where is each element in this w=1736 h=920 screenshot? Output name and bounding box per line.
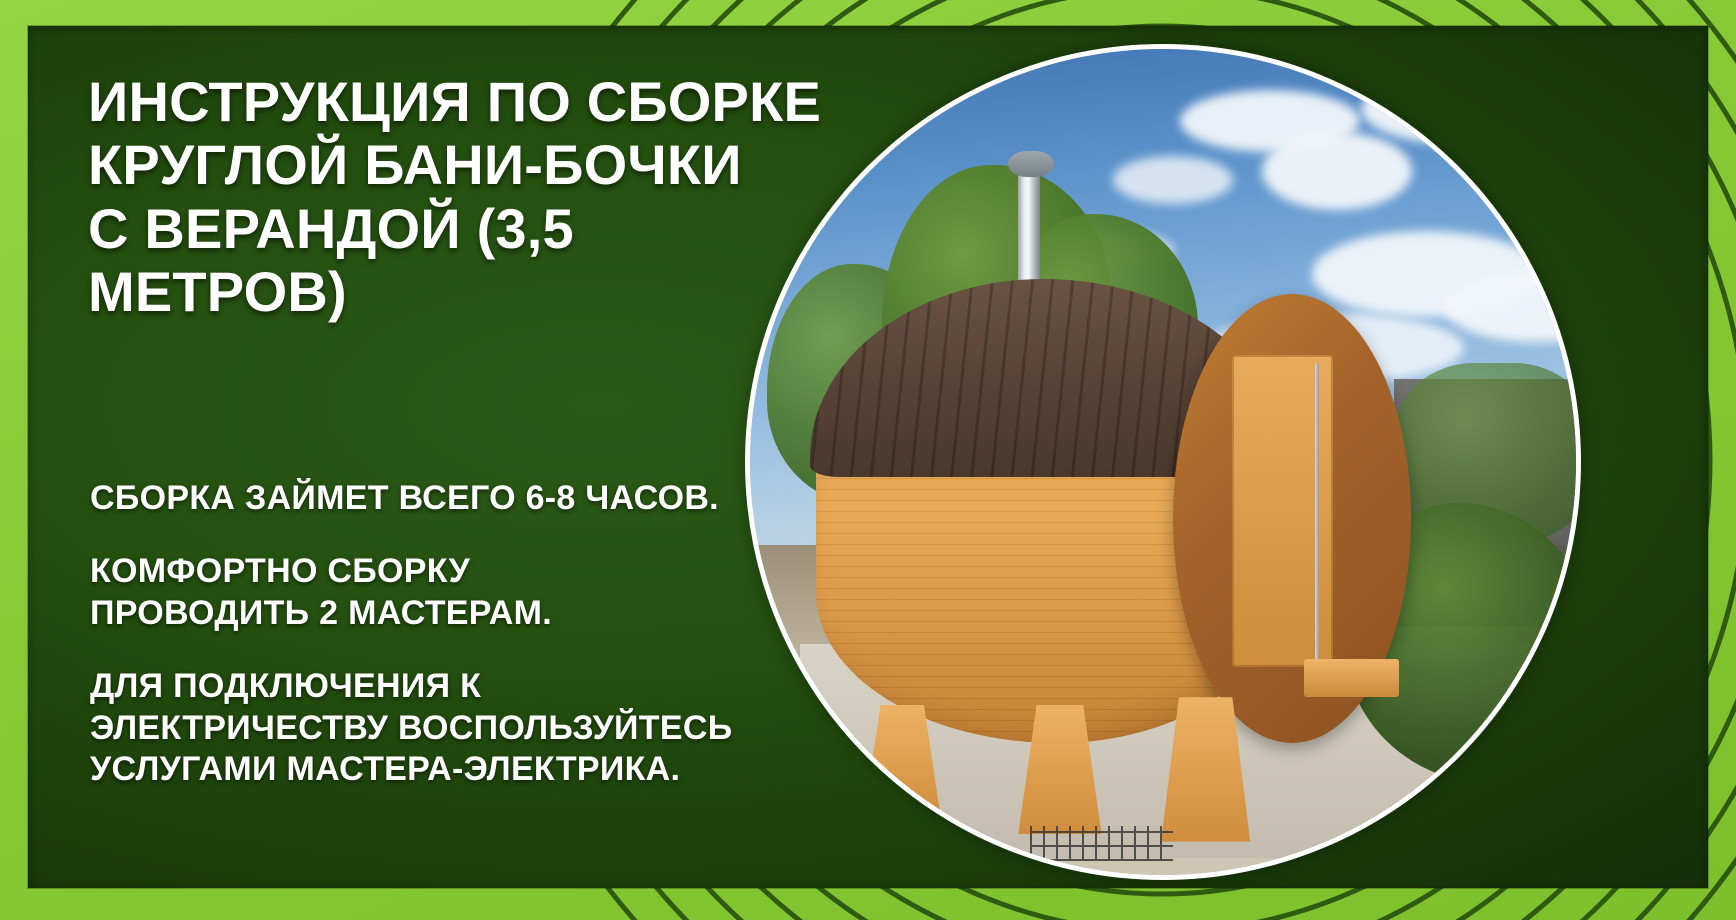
barrel-sauna: [816, 363, 1411, 743]
headline-block: ИНСТРУКЦИЯ ПО СБОРКЕ КРУГЛОЙ БАНИ-БОЧКИ …: [88, 70, 848, 323]
support-stand: [864, 705, 941, 819]
bullet-item-two-workers: КОМФОРТНО СБОРКУ ПРОВОДИТЬ 2 МАСТЕРАМ.: [90, 551, 870, 634]
veranda-rail: [1315, 363, 1319, 697]
cloud-icon: [1262, 132, 1412, 210]
metal-fence: [1030, 826, 1173, 860]
product-photo-frame: [745, 44, 1581, 880]
barrel-sauna-photo: [750, 49, 1576, 875]
dark-green-panel: ИНСТРУКЦИЯ ПО СБОРКЕ КРУГЛОЙ БАНИ-БОЧКИ …: [28, 26, 1708, 888]
page-title: ИНСТРУКЦИЯ ПО СБОРКЕ КРУГЛОЙ БАНИ-БОЧКИ …: [88, 70, 848, 323]
poster-canvas: ИНСТРУКЦИЯ ПО СБОРКЕ КРУГЛОЙ БАНИ-БОЧКИ …: [0, 0, 1736, 920]
cloud-icon: [1361, 74, 1551, 144]
bullet-item-assembly-time: СБОРКА ЗАЙМЕТ ВСЕГО 6-8 ЧАСОВ.: [90, 478, 870, 519]
bullet-list: СБОРКА ЗАЙМЕТ ВСЕГО 6-8 ЧАСОВ. КОМФОРТНО…: [90, 478, 870, 791]
bullet-item-electrician: ДЛЯ ПОДКЛЮЧЕНИЯ К ЭЛЕКТРИЧЕСТВУ ВОСПОЛЬЗ…: [90, 666, 870, 790]
veranda-bench: [1304, 659, 1399, 697]
chimney-cap: [1008, 151, 1054, 177]
